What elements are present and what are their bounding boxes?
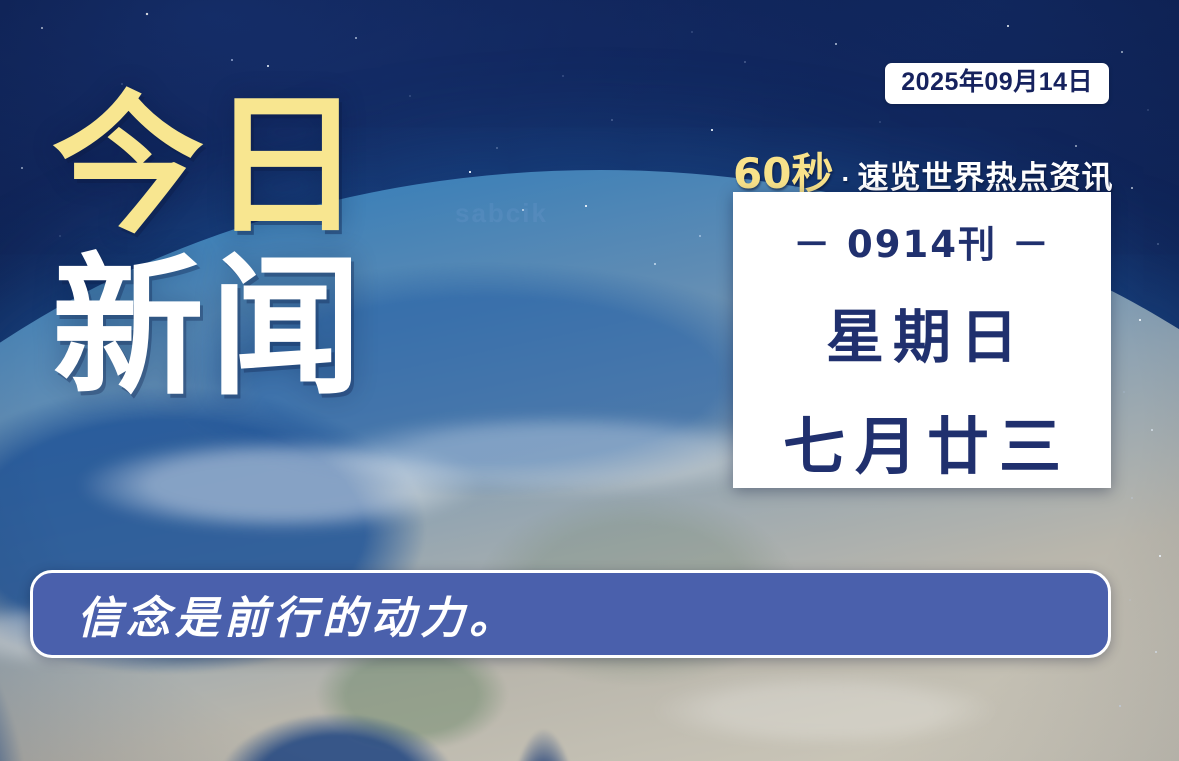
quote-banner: 信念是前行的动力。 [30, 570, 1111, 658]
page-title-line-2: 新闻 [52, 258, 368, 398]
date-badge: 2025年09月14日 [885, 63, 1109, 104]
tagline-separator: · [841, 164, 850, 195]
tagline-text: 速览世界热点资讯 [857, 152, 1113, 197]
news-poster: sabcik 2025年09月14日 今日 新闻 60秒 · 速览世界热点资讯 … [0, 0, 1179, 761]
issue-number: － 0914刊 － [793, 214, 1051, 268]
quote-text: 信念是前行的动力。 [33, 582, 518, 646]
lunar-date-label: 七月廿三 [773, 396, 1071, 486]
issue-info-card: － 0914刊 － 星期日 七月廿三 [733, 192, 1111, 488]
weekday-label: 星期日 [817, 290, 1027, 374]
page-title-line-1: 今日 [52, 96, 368, 236]
page-title: 今日 新闻 [52, 96, 368, 398]
